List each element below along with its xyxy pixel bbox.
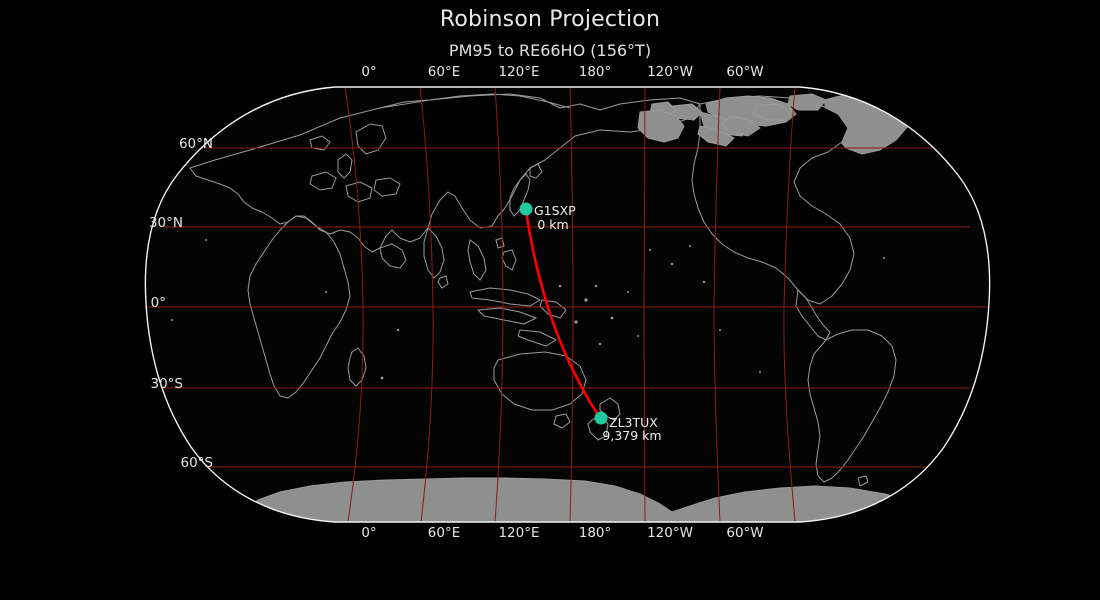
- robinson-map[interactable]: G1SXP 0 km ZL3TUX 9,379 km 0° 60°E 120°E…: [0, 0, 1100, 600]
- lon-tick-top: 60°W: [726, 64, 763, 80]
- longitude-axis-bottom: 0° 60°E 120°E 180° 120°W 60°W: [361, 525, 763, 541]
- marker-dot[interactable]: [520, 203, 533, 216]
- marker-distance-label: 9,379 km: [602, 428, 661, 443]
- map-figure: Robinson Projection PM95 to RE66HO (156°…: [0, 0, 1100, 600]
- lon-tick-top: 60°E: [428, 64, 460, 80]
- lon-tick-bottom: 180°: [579, 525, 612, 541]
- lon-tick-top: 120°E: [498, 64, 539, 80]
- lon-tick-bottom: 0°: [361, 525, 376, 541]
- marker-distance-label: 0 km: [537, 217, 568, 232]
- marker-callsign-label: G1SXP: [534, 203, 576, 218]
- lon-tick-bottom: 60°W: [726, 525, 763, 541]
- lat-tick: 30°S: [151, 376, 184, 392]
- lat-tick: 30°N: [149, 215, 183, 231]
- lon-tick-bottom: 60°E: [428, 525, 460, 541]
- lon-tick-top: 0°: [361, 64, 376, 80]
- lon-tick-bottom: 120°W: [647, 525, 693, 541]
- lat-tick: 60°S: [181, 455, 214, 471]
- lat-tick: 60°N: [179, 136, 213, 152]
- lon-tick-top: 120°W: [647, 64, 693, 80]
- lat-tick: 0°: [151, 295, 166, 311]
- lon-tick-top: 180°: [579, 64, 612, 80]
- longitude-axis-top: 0° 60°E 120°E 180° 120°W 60°W: [361, 64, 763, 80]
- lon-tick-bottom: 120°E: [498, 525, 539, 541]
- marker-zl3tux[interactable]: ZL3TUX 9,379 km: [595, 412, 662, 444]
- marker-dot[interactable]: [595, 412, 608, 425]
